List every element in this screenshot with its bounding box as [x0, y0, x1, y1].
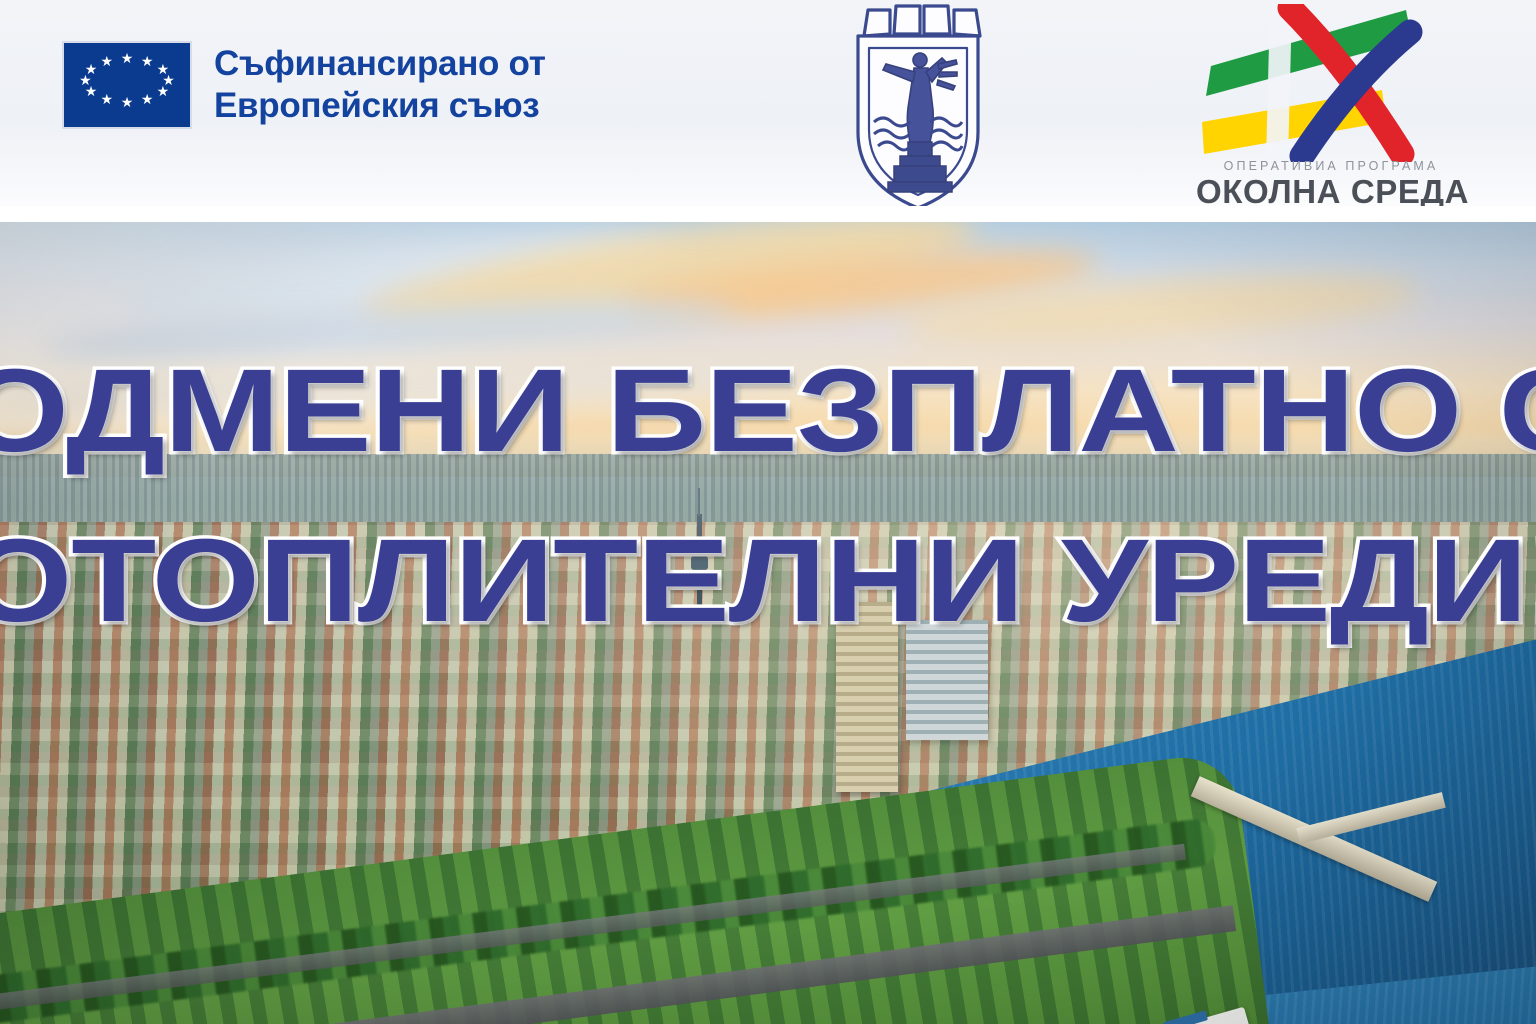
- op-environment-title: ОКОЛНА СРЕДА: [1196, 174, 1466, 210]
- tall-tower-block: [836, 602, 898, 792]
- eu-cofunding-block: ★ ★ ★ ★ ★ ★ ★ ★ ★ ★ ★ ★ Съфинансирано от…: [62, 41, 546, 129]
- logo-header-bar: ★ ★ ★ ★ ★ ★ ★ ★ ★ ★ ★ ★ Съфинансирано от…: [0, 0, 1536, 222]
- office-building: [906, 620, 988, 740]
- eu-stars-circle: ★ ★ ★ ★ ★ ★ ★ ★ ★ ★ ★ ★: [64, 43, 190, 127]
- eu-cofunding-text: Съфинансирано от Европейския съюз: [214, 43, 546, 127]
- op-environment-subtitle: ОПЕРАТИВИА ПРОГРАМА: [1196, 159, 1466, 173]
- european-union-flag-icon: ★ ★ ★ ★ ★ ★ ★ ★ ★ ★ ★ ★: [62, 41, 192, 129]
- op-environment-caption: ОПЕРАТИВИА ПРОГРАМА ОКОЛНА СРЕДА: [1196, 159, 1466, 210]
- eu-cofunding-line-1: Съфинансирано от: [214, 43, 546, 85]
- campaign-poster: ★ ★ ★ ★ ★ ★ ★ ★ ★ ★ ★ ★ Съфинансирано от…: [0, 0, 1536, 1024]
- tv-tower: [697, 514, 702, 614]
- eu-cofunding-line-2: Европейския съюз: [214, 85, 546, 127]
- ruse-coat-of-arms-icon: [838, 2, 998, 214]
- aerial-city-photo: ПОДМЕНИ БЕЗПЛАТНО СТАРИТЕ ОТОПЛИТЕЛНИ УР…: [0, 222, 1536, 1024]
- op-environment-logo: ОПЕРАТИВИА ПРОГРАМА ОКОЛНА СРЕДА: [1196, 4, 1466, 214]
- op-environment-mark-icon: [1196, 4, 1466, 162]
